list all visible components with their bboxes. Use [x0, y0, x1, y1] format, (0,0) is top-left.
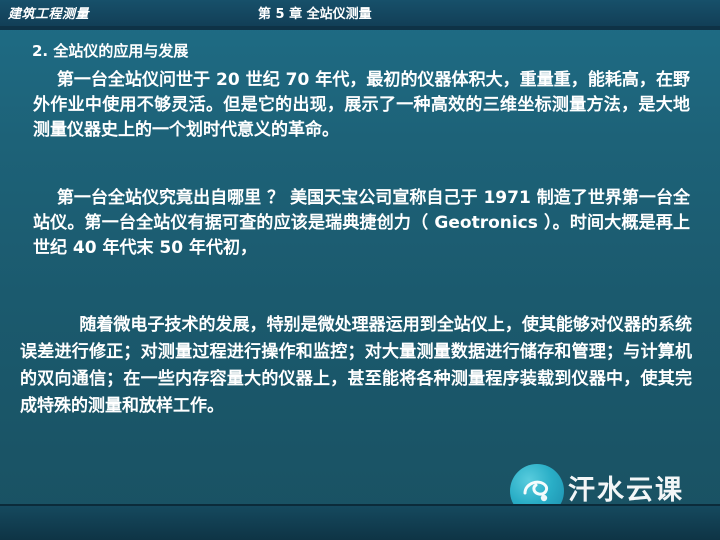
page-title: 2. 全站仪的应用与发展 [32, 40, 188, 61]
slide-content: 2. 全站仪的应用与发展 第一台全站仪问世于 20 世纪 70 年代，最初的仪器… [0, 34, 720, 504]
watermark-brand-cn: 汗水云课 [568, 468, 684, 507]
paragraph-3: 随着微电子技术的发展，特别是微处理器运用到全站仪上，使其能够对仪器的系统误差进行… [20, 312, 692, 420]
header-left-title: 建筑工程测量 [8, 3, 89, 22]
paragraph-1: 第一台全站仪问世于 20 世纪 70 年代，最初的仪器体积大，重量重，能耗高，在… [33, 68, 690, 143]
header-bar: 建筑工程测量 第 5 章 全站仪测量 [0, 0, 720, 26]
footer-bar [0, 506, 720, 540]
slide: 建筑工程测量 第 5 章 全站仪测量 2. 全站仪的应用与发展 第一台全站仪问世… [0, 0, 720, 540]
header-center-title: 第 5 章 全站仪测量 [258, 3, 372, 22]
paragraph-2: 第一台全站仪究竟出自哪里 ？ 美国天宝公司宣称自己于 1971 制造了世界第一台… [33, 186, 690, 261]
header-divider [0, 26, 720, 30]
